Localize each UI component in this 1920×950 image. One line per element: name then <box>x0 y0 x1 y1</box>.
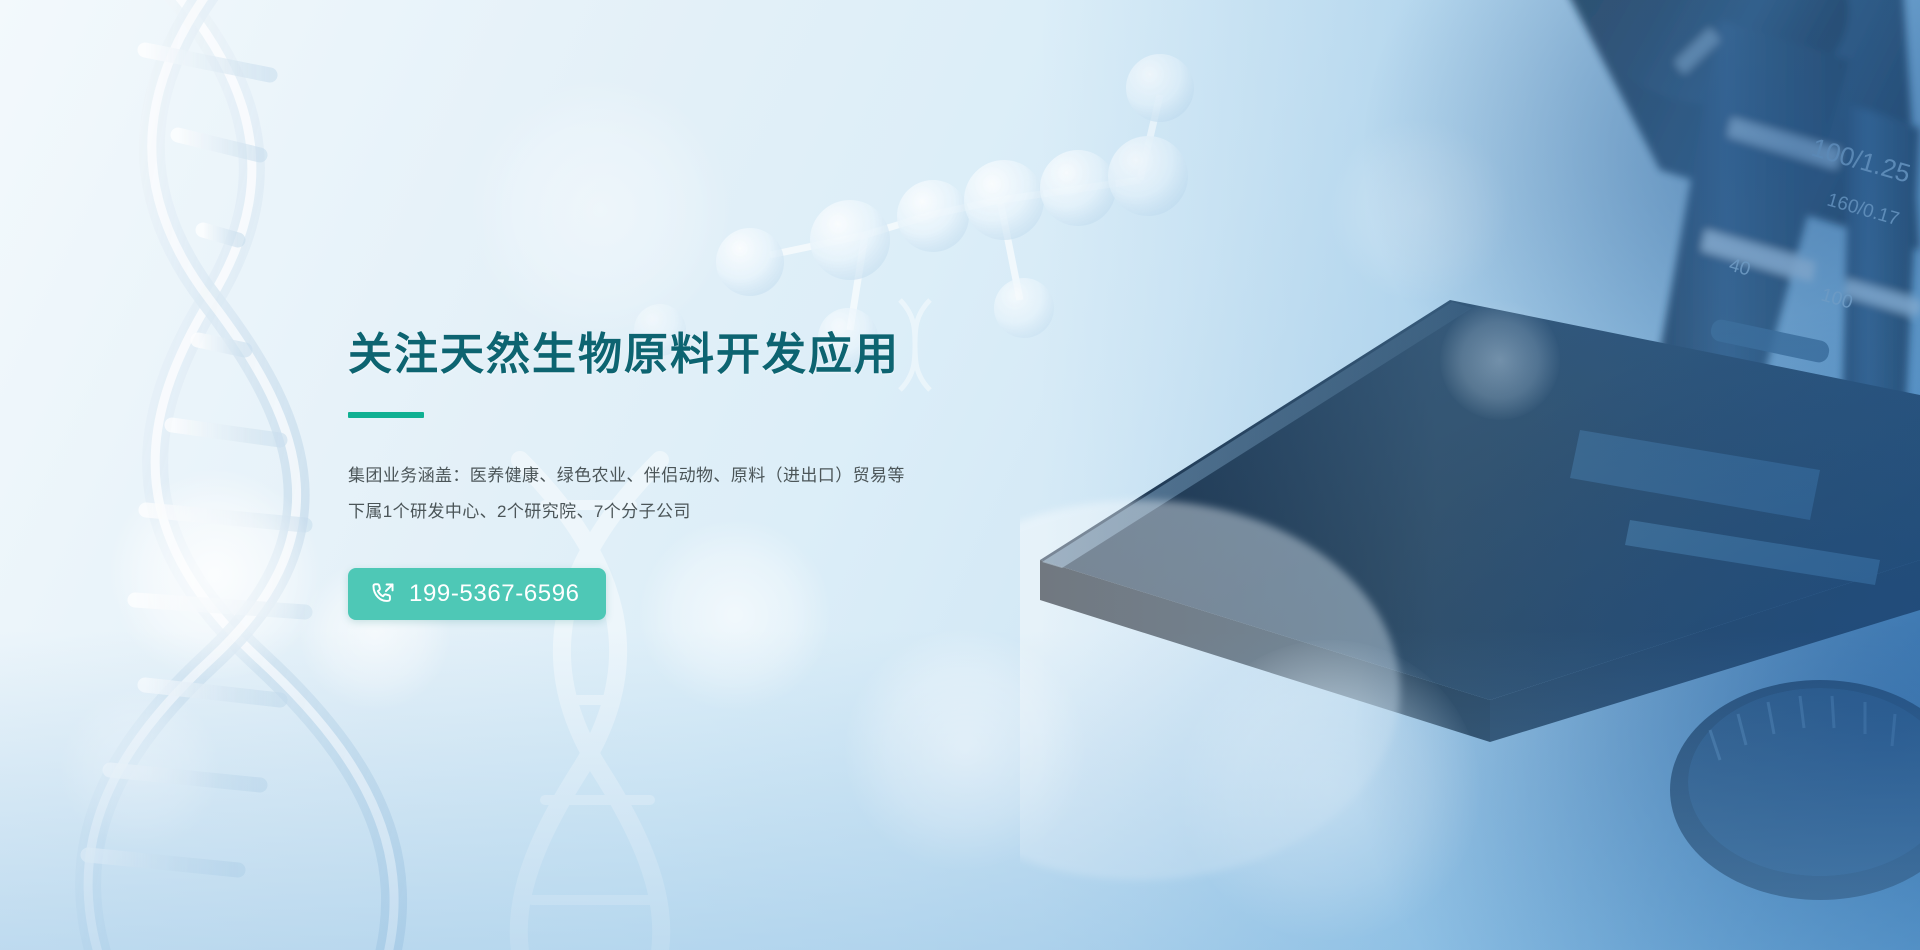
scope-marking-mag40: 40 <box>1727 255 1753 281</box>
subtitle-line-1: 集团业务涵盖：医养健康、绿色农业、伴侣动物、原料（进出口）贸易等 <box>348 458 1048 494</box>
bokeh-highlight <box>110 470 320 680</box>
hero-banner: 100/1.25 160/0.17 40 100 <box>0 0 1920 950</box>
title-divider <box>348 412 424 418</box>
phone-outgoing-icon <box>370 581 396 607</box>
scope-marking-mag100: 100 <box>1819 285 1855 314</box>
right-blue-wash <box>1040 0 1920 950</box>
banner-subtitle: 集团业务涵盖：医养健康、绿色农业、伴侣动物、原料（进出口）贸易等 下属1个研发中… <box>348 458 1048 530</box>
bokeh-highlight <box>470 80 730 340</box>
bokeh-highlight <box>845 630 1085 870</box>
bokeh-highlight <box>1440 300 1560 420</box>
bokeh-highlight <box>1180 640 1480 940</box>
bokeh-highlight <box>60 690 220 850</box>
page-title: 关注天然生物原料开发应用 <box>348 318 1048 382</box>
bokeh-highlight <box>1330 120 1510 300</box>
phone-call-button[interactable]: 199-5367-6596 <box>348 568 606 620</box>
microscope-graphic: 100/1.25 160/0.17 40 100 <box>1020 0 1920 950</box>
subtitle-line-2: 下属1个研发中心、2个研究院、7个分子公司 <box>348 494 1048 530</box>
banner-content: 关注天然生物原料开发应用 集团业务涵盖：医养健康、绿色农业、伴侣动物、原料（进出… <box>348 318 1048 620</box>
phone-number-label: 199-5367-6596 <box>409 582 580 606</box>
scope-marking-aperture: 100/1.25 <box>1808 132 1914 189</box>
scope-marking-tube: 160/0.17 <box>1825 190 1902 231</box>
bottom-blue-wash <box>0 630 1920 950</box>
